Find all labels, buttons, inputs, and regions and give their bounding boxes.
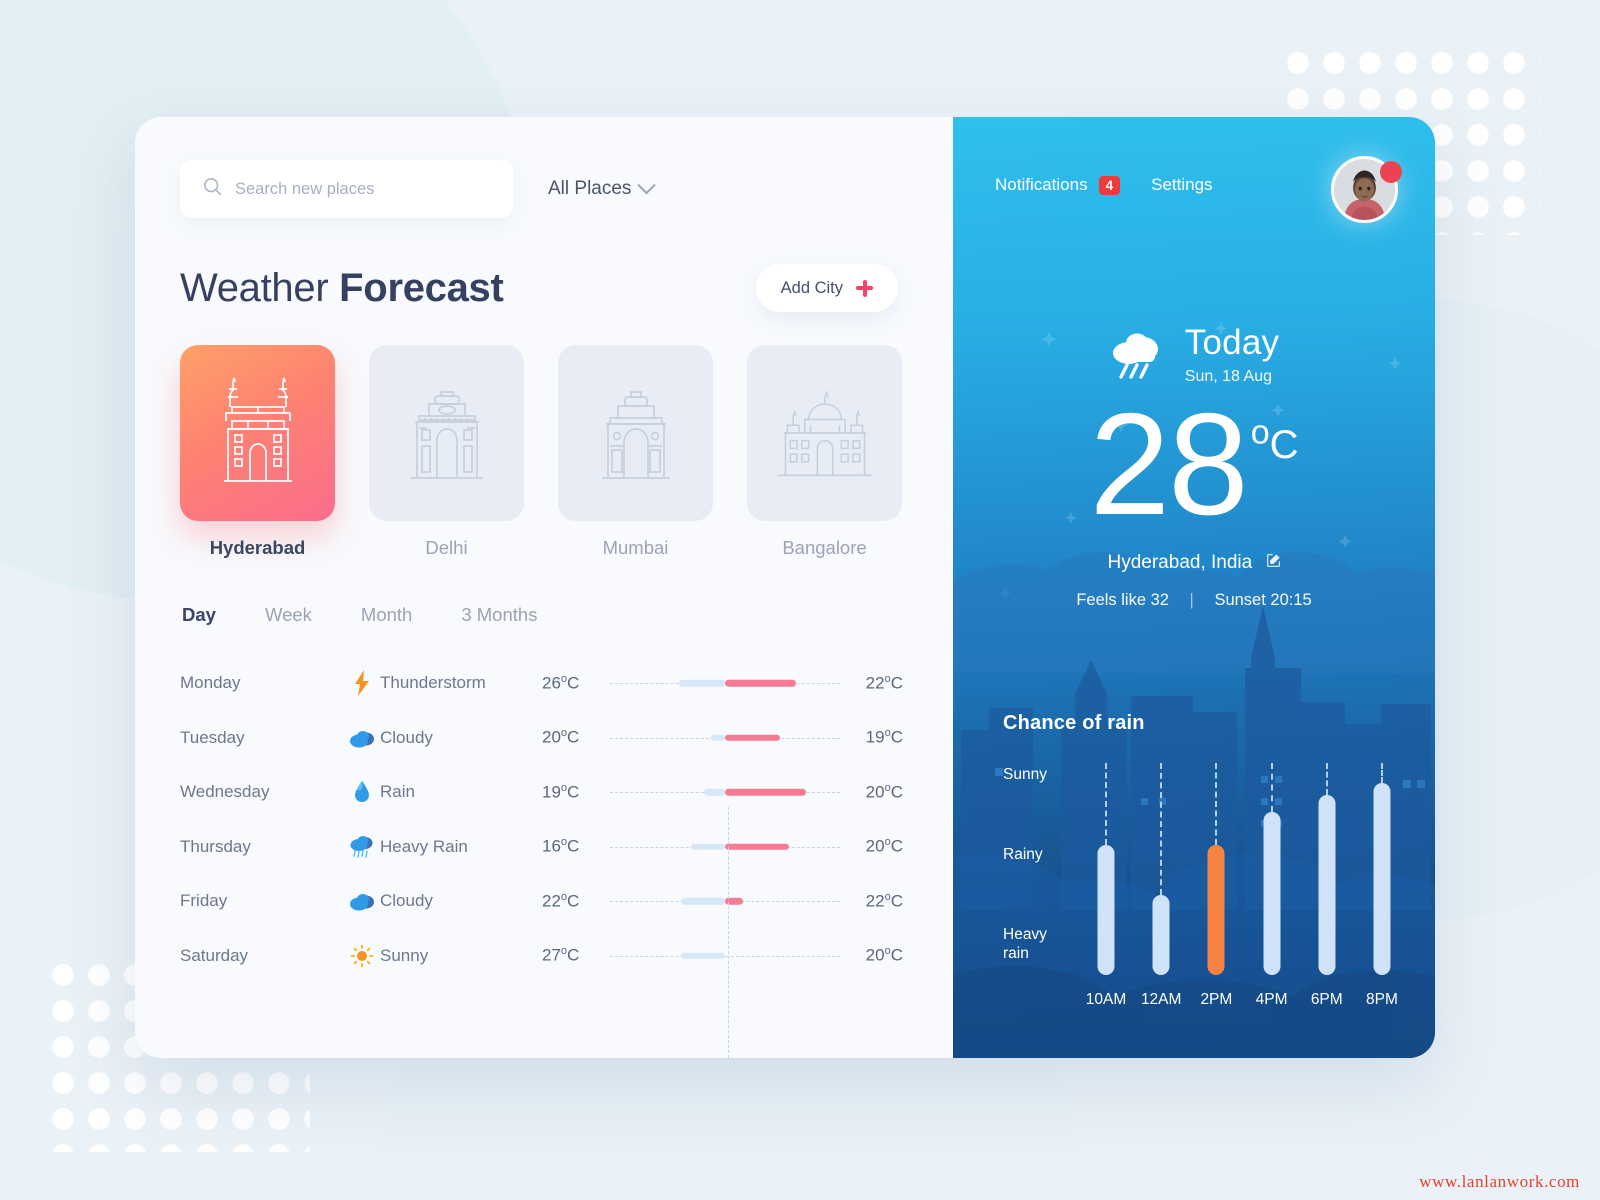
- forecast-condition: Heavy Rain: [380, 837, 542, 857]
- location-text: Hyderabad, India: [1108, 552, 1253, 573]
- forecast-right-temp: 20oC: [840, 945, 908, 966]
- temp-unit: C: [891, 837, 903, 856]
- city-name: Delhi: [369, 537, 524, 559]
- temp-unit: C: [891, 783, 903, 802]
- forecast-day: Monday: [180, 673, 344, 693]
- rain-chart: Sunny Rainy Heavy rain: [1003, 773, 1405, 998]
- forecast-right-temp: 20oC: [840, 782, 908, 803]
- forecast-left-temp: 26oC: [542, 673, 610, 694]
- forecast-left-temp: 27oC: [542, 945, 610, 966]
- temp-value: 22: [866, 892, 885, 911]
- forecast-condition: Sunny: [380, 946, 542, 966]
- online-status-dot: [1380, 161, 1402, 183]
- settings-button[interactable]: Settings: [1151, 175, 1212, 195]
- today-label: Today: [1185, 325, 1279, 360]
- city-card-delhi[interactable]: Delhi: [369, 345, 524, 559]
- weather-meta: Feels like 32 | Sunset 20:15: [953, 591, 1435, 610]
- forecast-day: Friday: [180, 891, 344, 911]
- temp-value: 22: [866, 674, 885, 693]
- temp-unit: C: [891, 728, 903, 747]
- bar-column[interactable]: [1138, 763, 1184, 975]
- sunny-icon: [344, 944, 380, 968]
- temp-range-bar: [610, 874, 840, 929]
- temp-value: 27: [542, 946, 561, 965]
- watermark: www.lanlanwork.com: [1419, 1172, 1580, 1192]
- bar-column-highlighted[interactable]: [1193, 763, 1239, 975]
- city-selector: Hyderabad: [180, 345, 908, 559]
- city-name: Hyderabad: [180, 537, 335, 559]
- settings-label: Settings: [1151, 175, 1212, 195]
- temp-range-bar: [610, 711, 840, 766]
- temp-unit: C: [567, 837, 579, 856]
- temp-value: 22: [542, 892, 561, 911]
- forecast-day: Thursday: [180, 837, 344, 857]
- thunderstorm-icon: [344, 670, 380, 696]
- today-text: Today Sun, 18 Aug: [1185, 325, 1279, 386]
- y-label-sunny: Sunny: [1003, 765, 1047, 784]
- chevron-down-icon: [638, 176, 656, 194]
- forecast-left-temp: 22oC: [542, 891, 610, 912]
- city-thumb: [747, 345, 902, 521]
- notifications-label: Notifications: [995, 175, 1088, 195]
- temp-value: 19: [542, 783, 561, 802]
- temp-value: 20: [866, 946, 885, 965]
- temp-unit: C: [567, 783, 579, 802]
- table-row[interactable]: Tuesday Cloudy 20oC 19oC: [180, 711, 908, 766]
- page-title: Weather Forecast: [180, 266, 504, 311]
- forecast-left-temp: 16oC: [542, 836, 610, 857]
- forecast-day: Tuesday: [180, 728, 344, 748]
- x-label-4pm: 4PM: [1249, 991, 1295, 1009]
- forecast-left-temp: 19oC: [542, 782, 610, 803]
- edit-icon[interactable]: [1266, 553, 1281, 572]
- right-panel: Notifications 4 Settings: [953, 117, 1435, 1058]
- forecast-right-temp: 22oC: [840, 891, 908, 912]
- temp-value: 20: [866, 783, 885, 802]
- search-icon: [202, 176, 223, 202]
- forecast-list: Monday Thunderstorm 26oC 22oC Tuesday: [180, 656, 908, 983]
- temp-unit: C: [891, 674, 903, 693]
- location-row[interactable]: Hyderabad, India: [953, 552, 1435, 574]
- x-label-2pm: 2PM: [1193, 991, 1239, 1009]
- chart-x-axis: 10AM 12AM 2PM 4PM 6PM 8PM: [1083, 991, 1405, 1009]
- today-block: Today Sun, 18 Aug: [953, 325, 1435, 386]
- right-nav: Notifications 4 Settings: [995, 175, 1213, 195]
- vidhana-soudha-icon: [772, 379, 878, 487]
- temp-range-bar: [610, 929, 840, 984]
- meta-separator: |: [1190, 591, 1194, 610]
- search-input[interactable]: [235, 180, 491, 199]
- forecast-condition: Cloudy: [380, 728, 542, 748]
- y-label-rainy: Rainy: [1003, 845, 1043, 864]
- forecast-condition: Thunderstorm: [380, 673, 542, 693]
- weather-app-card: All Places Weather Forecast Add City: [135, 117, 1435, 1058]
- chart-title: Chance of rain: [1003, 712, 1405, 735]
- temp-range-bar: [610, 656, 840, 711]
- temperature-value: 28: [1089, 383, 1246, 545]
- period-tabs: Day Week Month 3 Months: [180, 604, 908, 626]
- city-thumb: [369, 345, 524, 521]
- bar-column[interactable]: [1359, 763, 1405, 975]
- rain-cloud-icon: [1109, 327, 1165, 384]
- forecast-day: Saturday: [180, 946, 344, 966]
- chart-bars: [1083, 763, 1405, 975]
- sunset: Sunset 20:15: [1214, 591, 1311, 609]
- forecast-condition: Rain: [380, 782, 542, 802]
- forecast-right-temp: 20oC: [840, 836, 908, 857]
- temp-unit: C: [567, 892, 579, 911]
- bar-column[interactable]: [1304, 763, 1350, 975]
- forecast-right-temp: 19oC: [840, 727, 908, 748]
- tab-month[interactable]: Month: [361, 604, 412, 626]
- left-panel: All Places Weather Forecast Add City: [135, 117, 953, 1058]
- x-label-12am: 12AM: [1138, 991, 1184, 1009]
- temp-unit: C: [891, 892, 903, 911]
- temp-unit: C: [567, 674, 579, 693]
- add-city-label: Add City: [781, 279, 843, 298]
- city-card-mumbai[interactable]: Mumbai: [558, 345, 713, 559]
- all-places-dropdown[interactable]: All Places: [548, 178, 653, 200]
- chance-of-rain-card: Chance of rain Sunny Rainy Heavy rain: [1003, 712, 1405, 998]
- bar-column[interactable]: [1249, 763, 1295, 975]
- temperature-unit: oC: [1251, 423, 1299, 467]
- temp-unit: C: [891, 946, 903, 965]
- temp-value: 19: [866, 728, 885, 747]
- city-name: Mumbai: [558, 537, 713, 559]
- tab-day[interactable]: Day: [182, 604, 216, 626]
- temp-value: 20: [866, 837, 885, 856]
- x-label-10am: 10AM: [1083, 991, 1129, 1009]
- x-label-8pm: 8PM: [1359, 991, 1405, 1009]
- page-header: Weather Forecast Add City: [180, 264, 908, 312]
- temp-range-bar: [610, 820, 840, 875]
- city-card-hyderabad[interactable]: Hyderabad: [180, 345, 335, 559]
- temp-value: 20: [542, 728, 561, 747]
- charminar-icon: [210, 377, 306, 489]
- x-label-6pm: 6PM: [1304, 991, 1350, 1009]
- table-row[interactable]: Friday Cloudy 22oC 22oC: [180, 874, 908, 929]
- feels-like: Feels like 32: [1076, 591, 1169, 609]
- temp-unit: C: [567, 946, 579, 965]
- table-row[interactable]: Saturday Sunny 27oC: [180, 929, 908, 984]
- notifications-badge: 4: [1099, 176, 1121, 195]
- forecast-left-temp: 20oC: [542, 727, 610, 748]
- city-name: Bangalore: [747, 537, 902, 559]
- city-card-bangalore[interactable]: Bangalore: [747, 345, 902, 559]
- bar-column[interactable]: [1083, 763, 1129, 975]
- temp-range-bar: [610, 765, 840, 820]
- table-row[interactable]: Wednesday Rain 19oC 20oC: [180, 765, 908, 820]
- cloudy-icon: [344, 728, 380, 748]
- notifications-button[interactable]: Notifications 4: [995, 175, 1120, 195]
- tab-week[interactable]: Week: [265, 604, 312, 626]
- add-city-button[interactable]: Add City: [756, 264, 898, 312]
- india-gate-icon: [399, 378, 495, 488]
- tab-3-months[interactable]: 3 Months: [461, 604, 537, 626]
- table-row[interactable]: Monday Thunderstorm 26oC 22oC: [180, 656, 908, 711]
- cloudy-icon: [344, 891, 380, 911]
- forecast-condition: Cloudy: [380, 891, 542, 911]
- current-temperature: 28oC: [953, 392, 1435, 537]
- temp-value: 26: [542, 674, 561, 693]
- rain-icon: [344, 780, 380, 804]
- search-box[interactable]: [180, 160, 513, 218]
- y-label-heavy-rain: Heavy rain: [1003, 925, 1075, 964]
- page-title-light: Weather: [180, 266, 339, 310]
- plus-icon: [856, 280, 873, 297]
- temp-value: 16: [542, 837, 561, 856]
- forecast-right-temp: 22oC: [840, 673, 908, 694]
- all-places-label: All Places: [548, 178, 631, 200]
- city-thumb: [180, 345, 335, 521]
- temp-unit: C: [567, 728, 579, 747]
- chart-y-axis: Sunny Rainy Heavy rain: [1003, 773, 1075, 968]
- top-bar: All Places: [180, 160, 908, 218]
- city-thumb: [558, 345, 713, 521]
- table-row[interactable]: Thursday Heavy Rain 16oC: [180, 820, 908, 875]
- page-title-bold: Forecast: [339, 266, 503, 310]
- gateway-of-india-icon: [588, 378, 684, 488]
- forecast-day: Wednesday: [180, 782, 344, 802]
- heavy-rain-icon: [344, 834, 380, 860]
